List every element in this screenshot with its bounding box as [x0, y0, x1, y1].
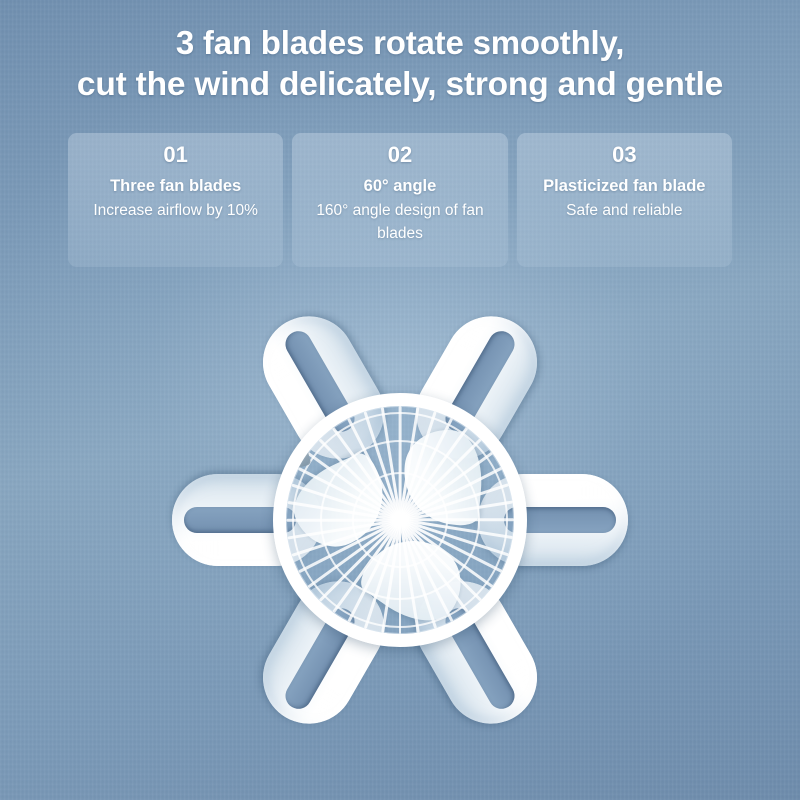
feature-card-title: Plasticized fan blade — [517, 174, 732, 198]
feature-card-number: 01 — [68, 141, 283, 169]
feature-card-01: 01 Three fan blades Increase airflow by … — [68, 133, 283, 267]
feature-card-02: 02 60° angle 160° angle design of fan bl… — [292, 133, 507, 267]
motor-detail — [279, 435, 311, 470]
feature-card-title: Three fan blades — [68, 174, 283, 198]
feature-card-title: 60° angle — [292, 174, 507, 198]
feature-card-row: 01 Three fan blades Increase airflow by … — [68, 133, 732, 267]
feature-card-description: Safe and reliable — [517, 199, 732, 222]
feature-card-number: 03 — [517, 141, 732, 169]
headline: 3 fan blades rotate smoothly, cut the wi… — [0, 22, 800, 106]
headline-line-1: 3 fan blades rotate smoothly, — [0, 22, 800, 64]
feature-card-03: 03 Plasticized fan blade Safe and reliab… — [517, 133, 732, 267]
guard-ring-inner — [352, 472, 448, 568]
fan-guard-ring — [273, 393, 527, 647]
feature-card-number: 02 — [292, 141, 507, 169]
feature-card-description: Increase airflow by 10% — [68, 199, 283, 222]
product-feature-banner: 3 fan blades rotate smoothly, cut the wi… — [0, 0, 800, 800]
headline-line-2: cut the wind delicately, strong and gent… — [0, 64, 800, 106]
feature-card-description: 160° angle design of fan blades — [292, 199, 507, 245]
